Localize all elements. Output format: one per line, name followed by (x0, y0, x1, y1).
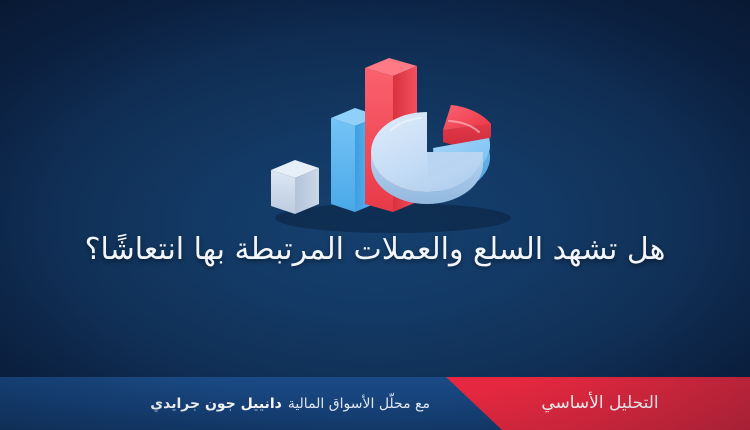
3d-bar-and-pie-chart-illustration (243, 48, 523, 233)
bar-small (271, 160, 319, 214)
category-badge: التحليل الأساسي (450, 377, 750, 430)
page-title: هل تشهد السلع والعملات المرتبطة بها انتع… (0, 228, 750, 272)
footer-bar: التحليل الأساسي مع محلّل الأسواق المالية… (0, 377, 750, 430)
analyst-name: دانييل جون جرايدي (150, 396, 282, 412)
credit-lead-text: مع محلّل الأسواق المالية (288, 396, 430, 412)
analyst-credit: مع محلّل الأسواق المالية دانييل جون جراي… (150, 377, 430, 430)
banner-canvas: هل تشهد السلع والعملات المرتبطة بها انتع… (0, 0, 750, 430)
